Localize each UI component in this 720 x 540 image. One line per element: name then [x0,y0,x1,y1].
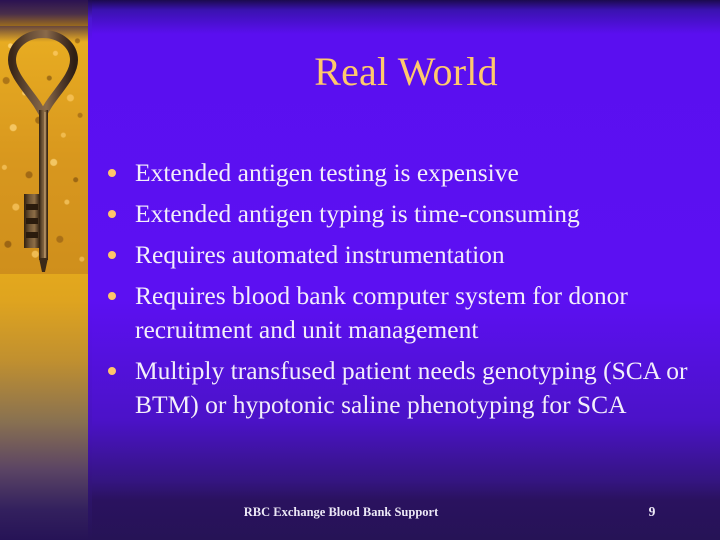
bullet-dot-icon [108,292,116,300]
presentation-slide: Real World Extended antigen testing is e… [0,0,720,540]
bullet-text: Extended antigen typing is time-consumin… [135,199,580,228]
bullet-item: Requires automated instrumentation [104,238,716,272]
bullet-text: Requires automated instrumentation [135,240,505,269]
bullet-dot-icon [108,169,116,177]
slide-decorative-band [0,0,88,540]
slide-title: Real World [92,48,720,96]
bullet-item: Extended antigen testing is expensive [104,156,716,190]
antique-key-icon [0,26,88,274]
bullet-dot-icon [108,367,116,375]
bullet-item: Extended antigen typing is time-consumin… [104,197,716,231]
bullet-text: Extended antigen testing is expensive [135,158,519,187]
bullet-item: Requires blood bank computer system for … [104,279,716,347]
footer-text: RBC Exchange Blood Bank Support [92,502,590,522]
slide-page-number: 9 [632,502,672,522]
bullet-dot-icon [108,251,116,259]
bullet-text: Requires blood bank computer system for … [135,281,628,344]
slide-body-bullet-list: Extended antigen testing is expensive Ex… [104,156,716,429]
slide-footer: RBC Exchange Blood Bank Support 9 [92,502,720,522]
bullet-dot-icon [108,210,116,218]
bullet-text: Multiply transfused patient needs genoty… [135,356,687,419]
bullet-item: Multiply transfused patient needs genoty… [104,354,716,422]
